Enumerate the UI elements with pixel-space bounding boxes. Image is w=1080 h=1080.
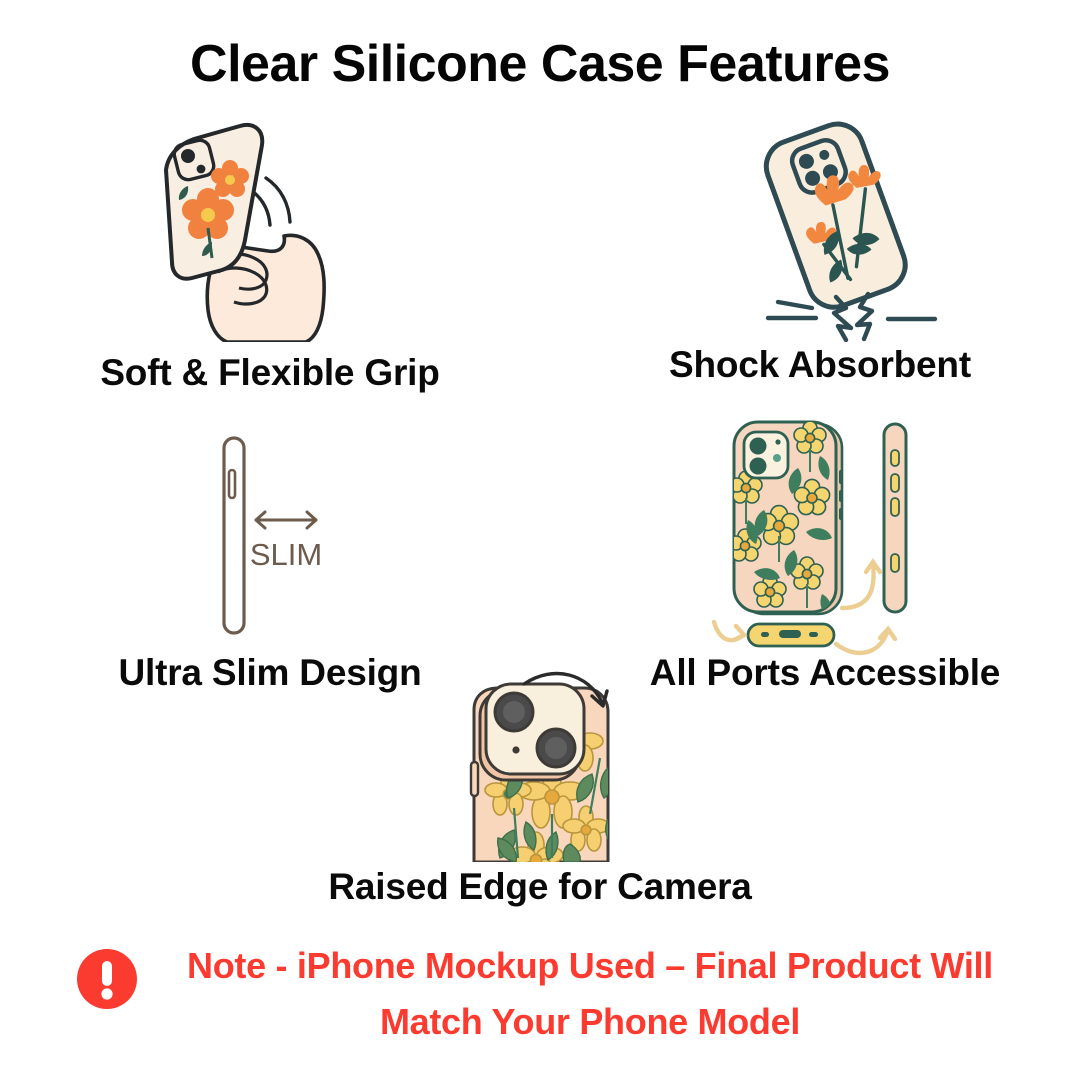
exclamation-circle-icon xyxy=(76,948,138,1010)
all-ports-accessible-illustration xyxy=(708,412,938,657)
camera-sensor xyxy=(773,454,781,462)
ultra-slim-design-illustration: SLIM xyxy=(186,428,376,643)
note-line-1: Note - iPhone Mockup Used – Final Produc… xyxy=(150,938,1030,994)
camera-module xyxy=(744,432,788,478)
disclaimer-note: Note - iPhone Mockup Used – Final Produc… xyxy=(0,938,1080,1058)
side-button xyxy=(229,470,235,498)
phone-back-view xyxy=(729,421,843,618)
raised-camera-bump xyxy=(480,684,584,780)
phone-side-profile xyxy=(224,438,244,633)
camera-flash xyxy=(512,746,519,753)
feature-label-shock-absorbent: Shock Absorbent xyxy=(570,344,1070,386)
width-arrow-icon xyxy=(256,512,316,528)
arrow-to-side xyxy=(836,630,888,653)
camera-lens xyxy=(181,149,195,163)
camera-lens-inner xyxy=(545,737,567,759)
falling-phone-case xyxy=(759,115,918,315)
raised-edge-for-camera-illustration xyxy=(452,662,662,862)
camera-lens-small xyxy=(197,165,206,174)
soft-flexible-grip-illustration xyxy=(118,112,368,342)
disclaimer-note-text: Note - iPhone Mockup Used – Final Produc… xyxy=(150,938,1030,1050)
camera-lens xyxy=(750,458,767,475)
phone-side-view xyxy=(884,424,906,612)
phone-bottom-view xyxy=(748,624,834,646)
feature-label-raised-edge-for-camera: Raised Edge for Camera xyxy=(250,866,830,908)
shock-absorbent-illustration xyxy=(720,112,950,342)
feature-label-ultra-slim-design: Ultra Slim Design xyxy=(20,652,520,694)
feature-infographic-page: Clear Silicone Case Features xyxy=(0,0,1080,1080)
camera-flash xyxy=(775,439,780,444)
note-line-2: Match Your Phone Model xyxy=(150,994,1030,1050)
side-buttons xyxy=(839,470,843,520)
page-title: Clear Silicone Case Features xyxy=(0,34,1080,94)
feature-label-soft-flexible-grip: Soft & Flexible Grip xyxy=(10,352,530,394)
side-button xyxy=(471,762,478,796)
camera-lens-inner xyxy=(503,701,525,723)
slim-annotation-label: SLIM xyxy=(250,537,322,572)
camera-lens xyxy=(750,438,767,455)
arrow-head xyxy=(734,626,744,640)
